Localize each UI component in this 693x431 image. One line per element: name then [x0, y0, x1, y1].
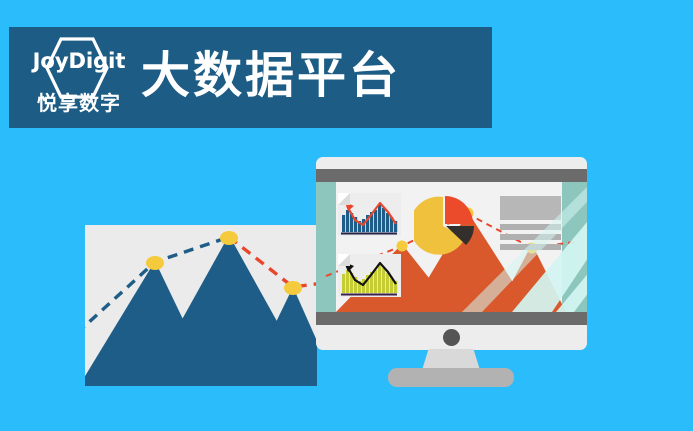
doc-heading-block — [500, 196, 561, 220]
monitor-illustration — [316, 157, 587, 350]
page-title: 大数据平台 — [141, 47, 401, 105]
axis-baseline — [341, 294, 397, 296]
doc-text-line — [500, 224, 561, 230]
pie-chart-graphic — [414, 195, 476, 257]
pie-slice-b — [445, 196, 473, 224]
monitor-bezel-bottom — [316, 312, 587, 325]
header-banner: JoyDigit 悦享数字 大数据平台 — [9, 27, 492, 128]
poster-canvas: JoyDigit 悦享数字 大数据平台 — [0, 0, 693, 431]
doc-text-line — [500, 234, 561, 240]
power-button-icon[interactable] — [443, 329, 460, 346]
monitor-stand-base — [388, 368, 514, 387]
peak-marker — [284, 281, 302, 295]
doc-text-line — [500, 244, 561, 250]
axis-baseline — [341, 233, 397, 235]
monitor-bezel-top — [316, 169, 587, 182]
pie-chart — [414, 195, 476, 257]
blue-bar-card — [338, 193, 401, 236]
olive-bar-card — [338, 254, 401, 297]
mountain-trend-panel — [85, 225, 317, 386]
brand-logo: JoyDigit 悦享数字 — [23, 35, 135, 121]
mountain-trend-graphic — [85, 225, 317, 386]
olive-bar-chart — [338, 254, 401, 297]
peak-marker — [146, 256, 164, 270]
peak-marker — [220, 231, 238, 245]
logo-subtitle: 悦享数字 — [23, 93, 135, 115]
orange-peak-marker — [397, 241, 408, 252]
document-placeholder — [500, 196, 561, 250]
blue-bar-chart — [338, 193, 401, 236]
monitor-screen — [316, 182, 587, 312]
logo-wordmark: JoyDigit — [23, 51, 135, 72]
